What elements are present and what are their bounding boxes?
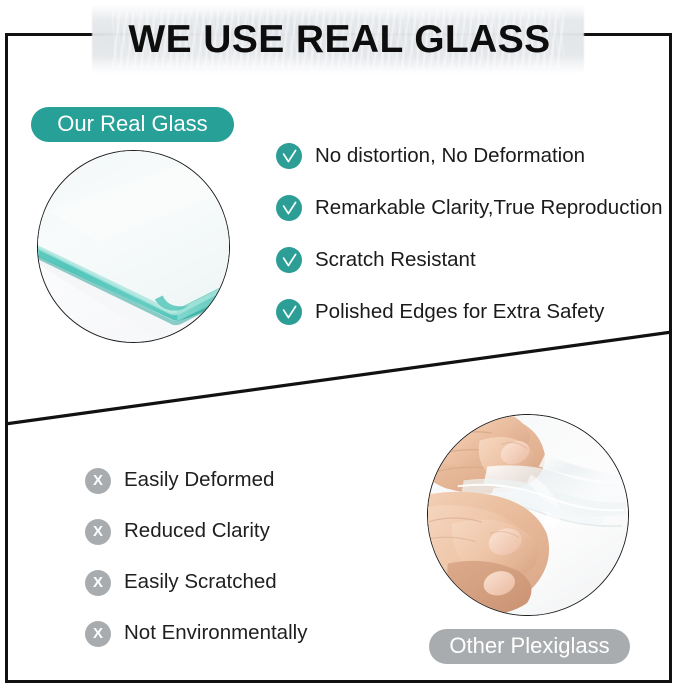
check-circle-icon (276, 247, 302, 273)
list-item: X Reduced Clarity (85, 506, 425, 557)
x-circle-icon: X (85, 468, 111, 494)
check-circle-icon (276, 195, 302, 221)
x-circle-icon: X (85, 519, 111, 545)
check-circle-icon (276, 299, 302, 325)
list-item-label: Scratch Resistant (315, 250, 476, 271)
list-item: X Easily Deformed (85, 455, 425, 506)
list-item: Scratch Resistant (276, 234, 676, 286)
badge-our-real-glass: Our Real Glass (31, 107, 234, 142)
real-glass-photo (37, 150, 230, 343)
cons-list: X Easily Deformed X Reduced Clarity X Ea… (85, 455, 425, 659)
list-item: Remarkable Clarity,True Reproduction (276, 182, 676, 234)
list-item-label: Remarkable Clarity,True Reproduction (315, 198, 663, 219)
list-item-label: Easily Scratched (124, 572, 277, 593)
badge-other-plexiglass: Other Plexiglass (429, 629, 630, 664)
list-item: No distortion, No Deformation (276, 130, 676, 182)
page-title-text: WE USE REAL GLASS (0, 0, 679, 80)
list-item: X Easily Scratched (85, 557, 425, 608)
list-item-label: Easily Deformed (124, 470, 274, 491)
list-item-label: Polished Edges for Extra Safety (315, 302, 604, 323)
x-circle-icon: X (85, 621, 111, 647)
list-item: X Not Environmentally (85, 608, 425, 659)
x-circle-icon: X (85, 570, 111, 596)
pros-list: No distortion, No Deformation Remarkable… (276, 130, 676, 338)
list-item-label: Not Environmentally (124, 623, 307, 644)
list-item: Polished Edges for Extra Safety (276, 286, 676, 338)
check-circle-icon (276, 143, 302, 169)
list-item-label: No distortion, No Deformation (315, 146, 585, 167)
page-title: WE USE REAL GLASS (0, 0, 679, 80)
plexiglass-photo (427, 414, 629, 616)
list-item-label: Reduced Clarity (124, 521, 270, 542)
